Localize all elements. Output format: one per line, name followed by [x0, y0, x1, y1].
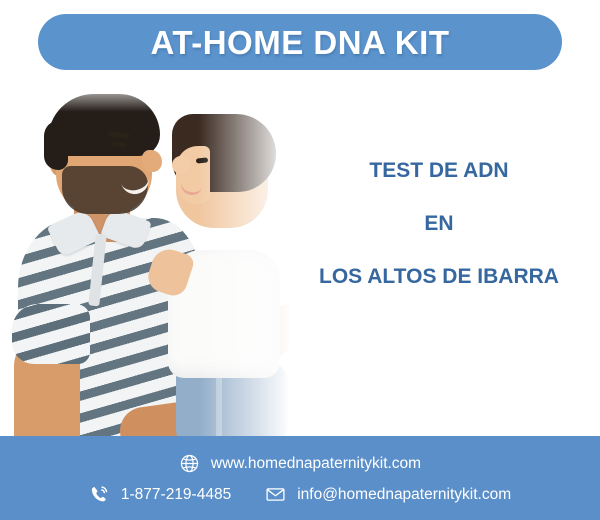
man-nose — [142, 150, 162, 172]
child-nose — [172, 156, 190, 174]
contact-email[interactable]: info@homednapaternitykit.com — [265, 484, 511, 505]
footer-row-website: www.homednapaternitykit.com — [0, 450, 600, 477]
envelope-icon — [265, 484, 286, 505]
headline-block: TEST DE ADN EN LOS ALTOS DE IBARRA — [292, 160, 586, 287]
globe-icon — [179, 453, 200, 474]
photo-stage — [0, 78, 310, 453]
contact-phone[interactable]: 1-877-219-4485 — [89, 484, 231, 505]
headline-line-1: TEST DE ADN — [292, 160, 586, 181]
man-hair-side — [44, 120, 68, 170]
poster: AT-HOME DNA KIT — [0, 0, 600, 520]
hero-photo — [0, 78, 310, 453]
email-text: info@homednapaternitykit.com — [297, 487, 511, 503]
phone-icon — [89, 484, 110, 505]
headline-line-2: EN — [292, 213, 586, 234]
phone-text: 1-877-219-4485 — [121, 487, 231, 503]
page-title: AT-HOME DNA KIT — [151, 26, 450, 59]
man-sleeve — [12, 304, 90, 364]
footer-bar: www.homednapaternitykit.com 1-877-219-44… — [0, 436, 600, 520]
footer-row-phone-email: 1-877-219-4485 info@homednapaternitykit.… — [0, 481, 600, 508]
child-face — [176, 146, 210, 204]
headline-line-3: LOS ALTOS DE IBARRA — [292, 266, 586, 287]
contact-website[interactable]: www.homednapaternitykit.com — [179, 453, 421, 474]
header-banner: AT-HOME DNA KIT — [38, 14, 562, 70]
website-text: www.homednapaternitykit.com — [211, 456, 421, 472]
